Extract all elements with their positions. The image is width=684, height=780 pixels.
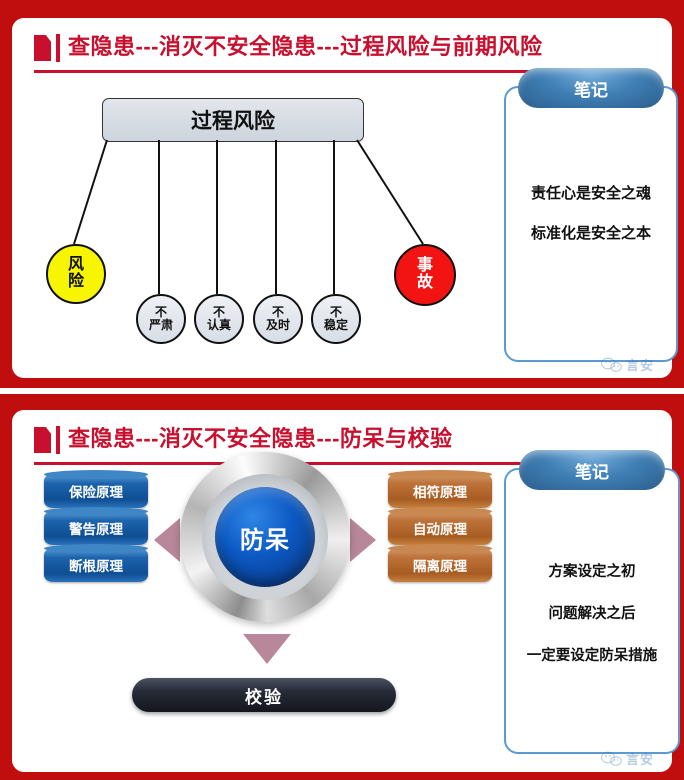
slide-2-note-line-2: 问题解决之后 [514, 604, 670, 624]
arrow-right-icon [350, 518, 376, 562]
slide-1-note-line-2: 标准化是安全之本 [514, 224, 668, 244]
right-principle-stack: 相符原理 自动原理 隔离原理 [388, 474, 492, 585]
process-risk-diagram: 过程风险 风险 事故 不严肃 [12, 76, 482, 366]
slide-2-card: 查隐患---消灭不安全隐患---防呆与校验 保险原理 警告原理 断根原理 相符原… [12, 410, 672, 772]
right-item-2: 自动原理 [388, 511, 492, 545]
arrow-down-icon [243, 634, 291, 664]
slide-2-watermark: 言安 [601, 749, 654, 768]
slide-1-note-body: 责任心是安全之魂 标准化是安全之本 [514, 184, 668, 264]
flag-icon [34, 35, 51, 61]
connector-lines [12, 76, 482, 366]
wechat-icon [601, 357, 623, 373]
slide-1-note-header: 笔记 [518, 68, 664, 108]
slide-deck: 查隐患---消灭不安全隐患---过程风险与前期风险 过程风险 风险 [0, 0, 684, 780]
node-middle-2: 不认真 [194, 294, 244, 344]
left-item-1: 保险原理 [44, 474, 148, 508]
title-accent-bar [56, 34, 60, 62]
center-hub-ring: 防呆 [202, 474, 328, 600]
slide-2-note-body: 方案设定之初 问题解决之后 一定要设定防呆措施 [514, 562, 670, 688]
node-middle-1: 不严肃 [136, 294, 186, 344]
node-middle-4: 不稳定 [311, 294, 361, 344]
right-item-3: 隔离原理 [388, 548, 492, 582]
left-item-2: 警告原理 [44, 511, 148, 545]
center-hub: 防呆 [180, 452, 350, 622]
node-risk-line1: 风险 [68, 257, 84, 291]
slide-2-note-panel: 笔记 方案设定之初 问题解决之后 一定要设定防呆措施 [504, 468, 680, 754]
slide-1-watermark-text: 言安 [626, 355, 654, 374]
slide-2: 查隐患---消灭不安全隐患---防呆与校验 保险原理 警告原理 断根原理 相符原… [0, 394, 684, 780]
title-accent-bar [56, 426, 60, 454]
left-principle-stack: 保险原理 警告原理 断根原理 [44, 474, 148, 585]
node-middle-1-label: 不严肃 [149, 306, 173, 331]
slide-2-note-line-1: 方案设定之初 [514, 562, 670, 582]
node-accident-line1: 事故 [417, 258, 433, 292]
node-accident: 事故 [394, 244, 456, 306]
slide-2-title: 查隐患---消灭不安全隐患---防呆与校验 [68, 422, 452, 456]
arrow-left-icon [154, 518, 180, 562]
node-risk: 风险 [46, 244, 106, 304]
wechat-icon [601, 751, 623, 767]
slide-1-note-panel: 笔记 责任心是安全之魂 标准化是安全之本 [504, 86, 678, 362]
right-item-1: 相符原理 [388, 474, 492, 508]
foolproof-diagram: 保险原理 警告原理 断根原理 相符原理 自动原理 隔离原理 防呆 [12, 466, 492, 766]
left-item-3: 断根原理 [44, 548, 148, 582]
slide-2-note-line-3: 一定要设定防呆措施 [514, 646, 670, 666]
slide-1-card: 查隐患---消灭不安全隐患---过程风险与前期风险 过程风险 风险 [12, 18, 672, 378]
node-middle-3-label: 不及时 [266, 306, 290, 331]
slide-1-title: 查隐患---消灭不安全隐患---过程风险与前期风险 [68, 30, 542, 64]
slide-2-watermark-text: 言安 [626, 749, 654, 768]
center-hub-label: 防呆 [215, 487, 315, 587]
slide-1-watermark: 言安 [601, 355, 654, 374]
slide-1: 查隐患---消灭不安全隐患---过程风险与前期风险 过程风险 风险 [0, 0, 684, 388]
flag-icon [34, 427, 51, 453]
slide-1-note-line-1: 责任心是安全之魂 [514, 184, 668, 204]
node-middle-2-label: 不认真 [207, 306, 231, 331]
slide-2-note-header: 笔记 [519, 450, 665, 490]
bottom-verification-bar: 校验 [132, 678, 396, 712]
node-middle-3: 不及时 [253, 294, 303, 344]
node-middle-4-label: 不稳定 [324, 306, 348, 331]
